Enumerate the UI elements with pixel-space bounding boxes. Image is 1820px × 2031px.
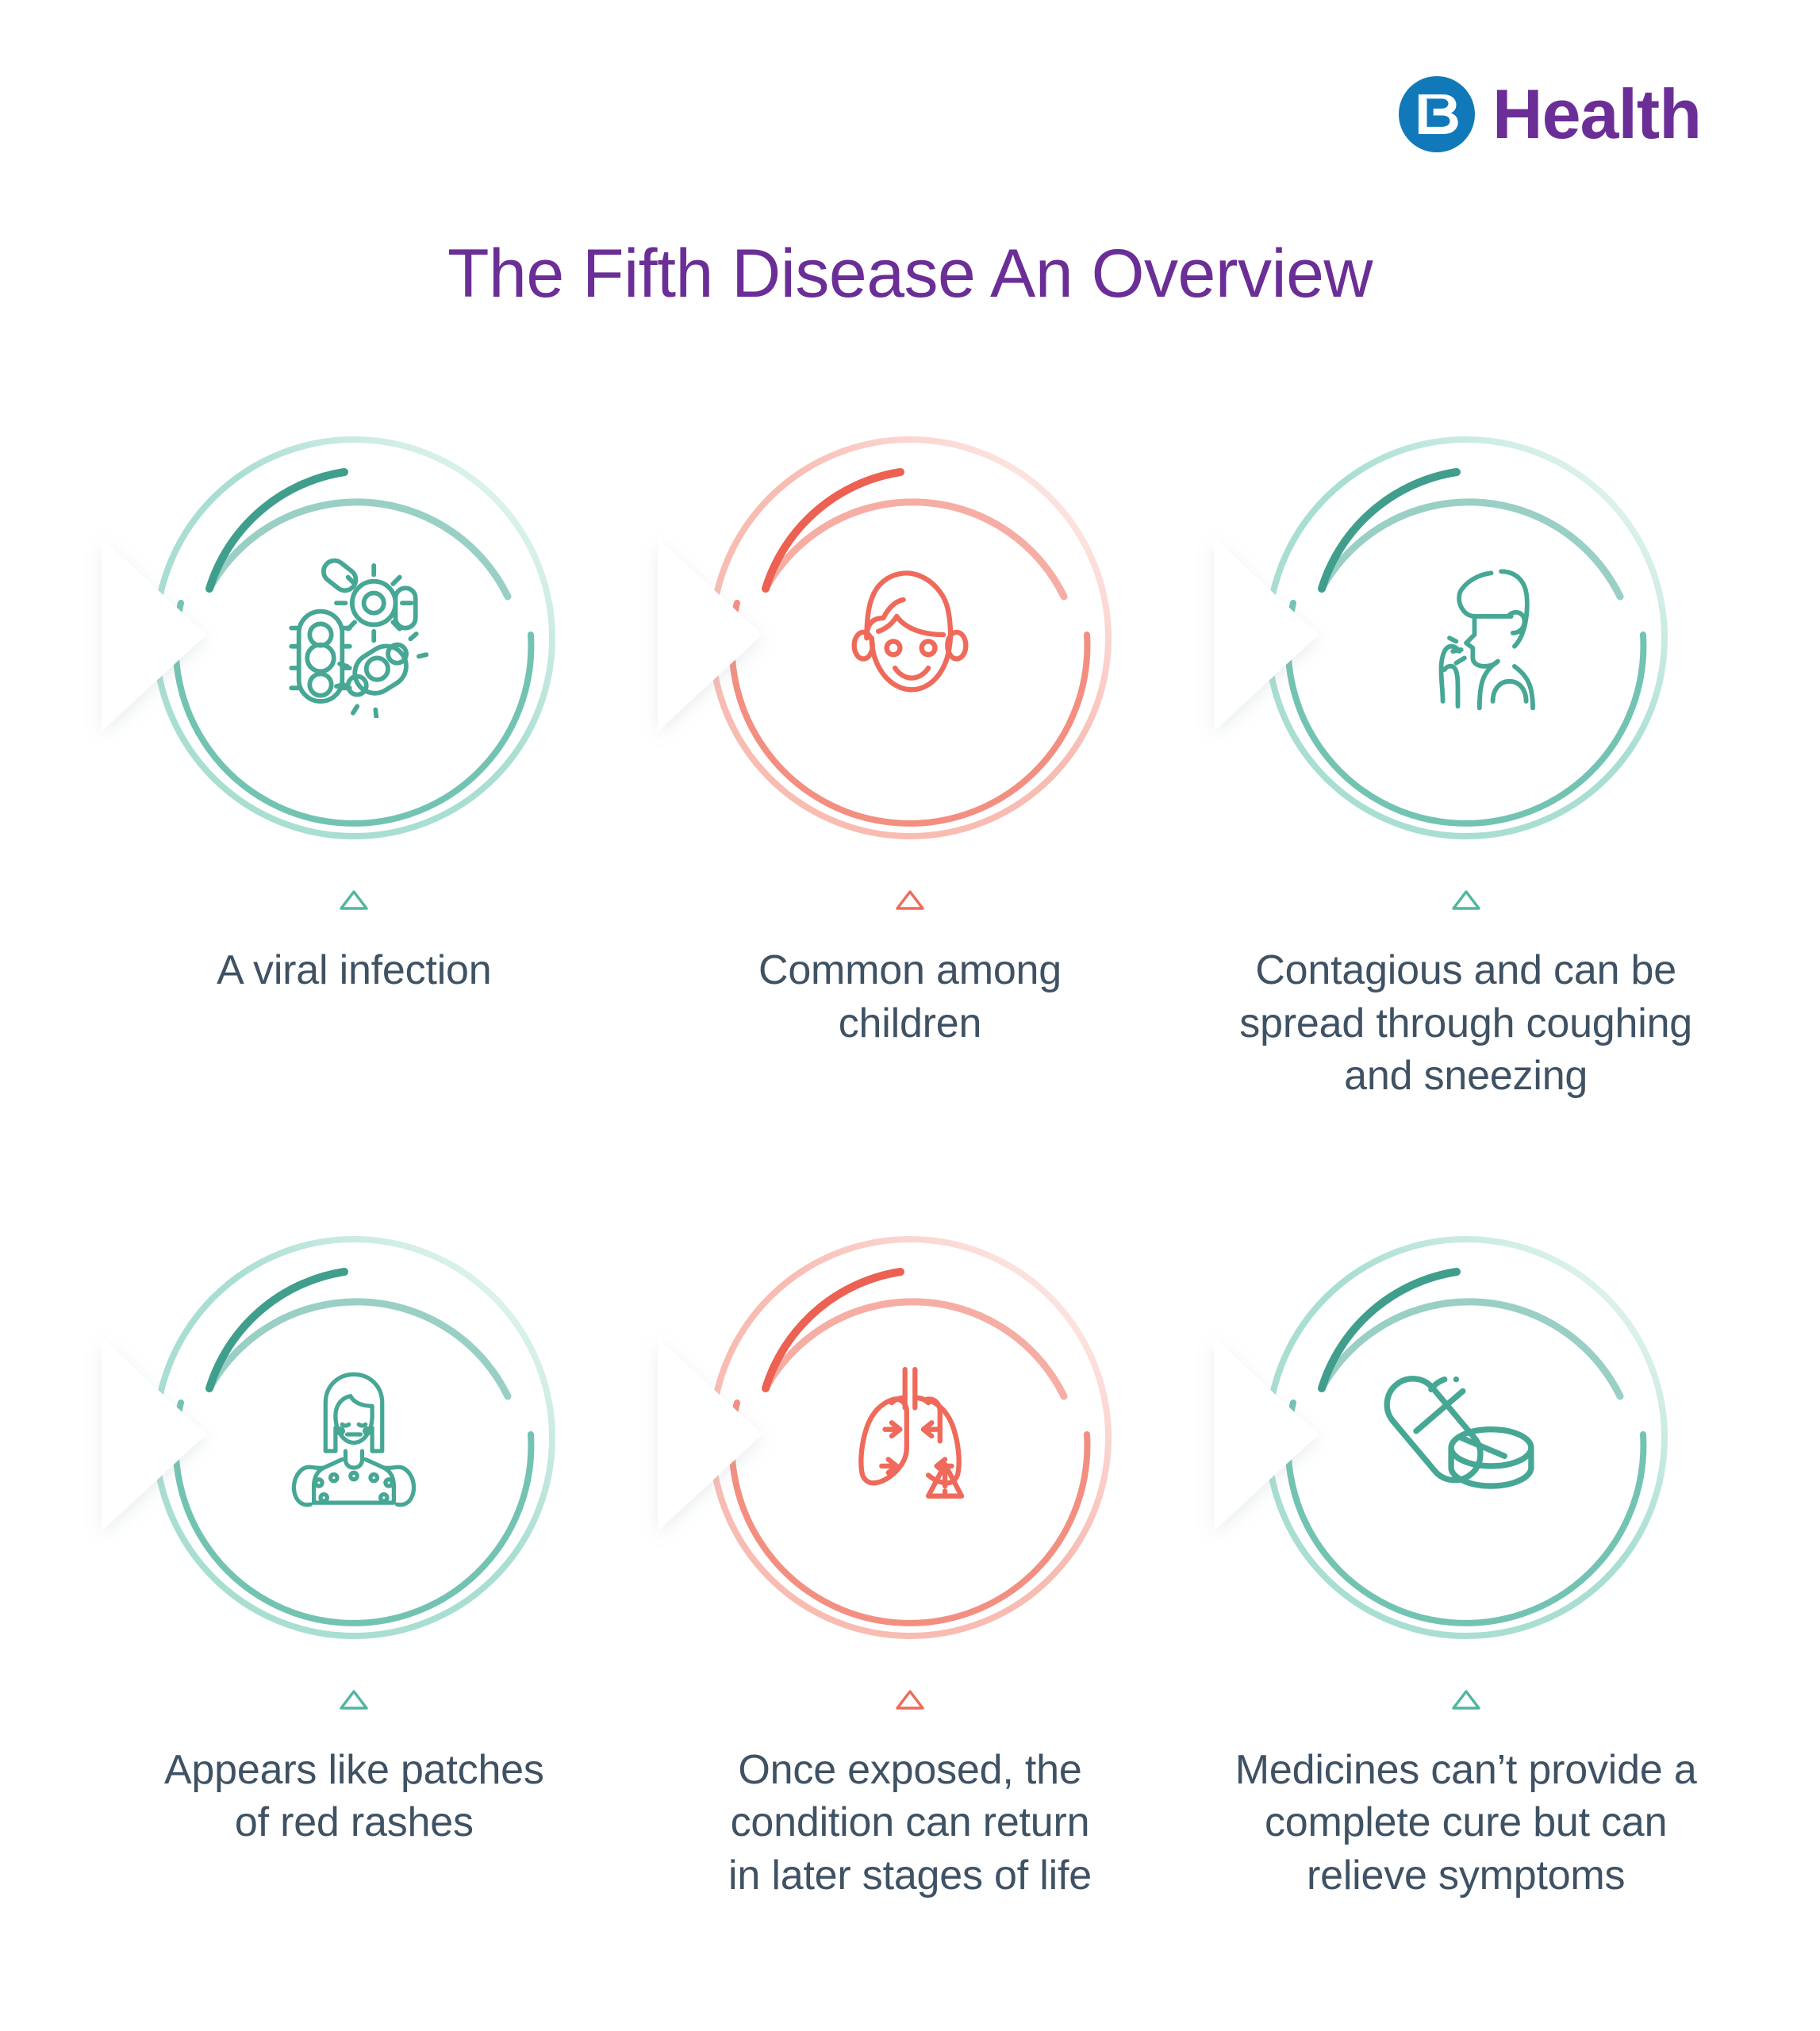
chevron-right-arrow-icon xyxy=(90,532,209,738)
card-caption: Common among children xyxy=(758,944,1062,1050)
card-viral-infection: A viral infection xyxy=(76,413,632,1103)
icon-badge xyxy=(1244,413,1688,857)
card-caption: Medicines can’t provide a complete cure … xyxy=(1235,1744,1697,1902)
caption-block: Once exposed, the condition can return i… xyxy=(632,1688,1188,1902)
page-title: The Fifth Disease An Overview xyxy=(0,236,1820,312)
lungs-warning-icon xyxy=(827,1351,993,1518)
card-medicines-relieve: Medicines can’t provide a complete cure … xyxy=(1188,1212,1744,1902)
overview-cards-grid: A viral infection xyxy=(76,413,1744,1902)
icon-badge xyxy=(132,413,576,857)
triangle-up-outline-icon xyxy=(339,889,369,911)
caption-block: Contagious and can be spread through cou… xyxy=(1188,889,1744,1103)
chevron-right-arrow-icon xyxy=(1203,1331,1322,1538)
bajaj-finserv-b-mark-icon xyxy=(1399,76,1475,152)
chevron-right-arrow-icon xyxy=(1203,532,1322,738)
brand-header: Health xyxy=(1399,76,1701,152)
triangle-up-outline-icon xyxy=(895,1688,925,1710)
triangle-up-outline-icon xyxy=(895,889,925,911)
card-caption: Contagious and can be spread through cou… xyxy=(1239,944,1692,1103)
caption-block: Appears like patches of red rashes xyxy=(76,1688,632,1849)
caption-block: Common among children xyxy=(632,889,1188,1050)
card-contagious-spread: Contagious and can be spread through cou… xyxy=(1188,413,1744,1103)
chevron-right-arrow-icon xyxy=(647,1331,766,1538)
caption-block: A viral infection xyxy=(76,889,632,997)
chevron-right-arrow-icon xyxy=(90,1331,209,1538)
icon-badge xyxy=(1244,1212,1688,1657)
capsule-and-tablet-icon xyxy=(1383,1351,1549,1518)
caption-block: Medicines can’t provide a complete cure … xyxy=(1188,1688,1744,1902)
card-condition-returns: Once exposed, the condition can return i… xyxy=(632,1212,1188,1902)
bacteria-germs-icon xyxy=(271,551,437,718)
card-common-among-children: Common among children xyxy=(632,413,1188,1103)
card-caption: Appears like patches of red rashes xyxy=(164,1744,544,1849)
triangle-up-outline-icon xyxy=(339,1688,369,1710)
chevron-right-arrow-icon xyxy=(647,532,766,738)
brand-name: Health xyxy=(1492,79,1701,149)
person-with-rashes-icon xyxy=(271,1351,437,1518)
child-face-icon xyxy=(827,551,993,718)
icon-badge xyxy=(132,1212,576,1657)
icon-badge xyxy=(688,413,1132,857)
card-red-rashes: Appears like patches of red rashes xyxy=(76,1212,632,1902)
triangle-up-outline-icon xyxy=(1451,1688,1481,1710)
card-caption: A viral infection xyxy=(217,944,491,997)
card-caption: Once exposed, the condition can return i… xyxy=(728,1744,1092,1902)
triangle-up-outline-icon xyxy=(1451,889,1481,911)
person-coughing-icon xyxy=(1383,551,1549,718)
icon-badge xyxy=(688,1212,1132,1657)
